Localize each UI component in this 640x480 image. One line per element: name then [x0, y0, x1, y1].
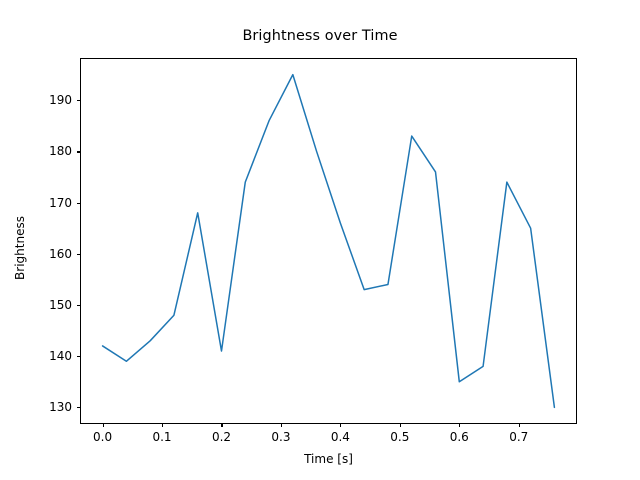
x-tick-label: 0.4 — [310, 430, 370, 444]
x-tick-mark — [400, 424, 401, 428]
x-tick-mark — [459, 424, 460, 428]
x-axis-label: Time [s] — [80, 452, 577, 466]
chart-figure: Brightness over Time 1301401501601701801… — [0, 0, 640, 480]
x-tick-label: 0.7 — [489, 430, 549, 444]
x-tick-label: 0.2 — [191, 430, 251, 444]
x-tick-mark — [162, 424, 163, 428]
x-tick-label: 0.3 — [251, 430, 311, 444]
x-tick-label: 0.6 — [429, 430, 489, 444]
brightness-line — [103, 75, 555, 408]
x-tick-label: 0.1 — [132, 430, 192, 444]
x-tick-label: 0.0 — [73, 430, 133, 444]
x-tick-mark — [221, 424, 222, 428]
line-series-plot — [80, 58, 577, 424]
x-tick-label: 0.5 — [370, 430, 430, 444]
x-tick-mark — [281, 424, 282, 428]
x-tick-mark — [519, 424, 520, 428]
x-tick-mark — [103, 424, 104, 428]
x-tick-mark — [340, 424, 341, 428]
y-axis-label: Brightness — [13, 168, 27, 328]
